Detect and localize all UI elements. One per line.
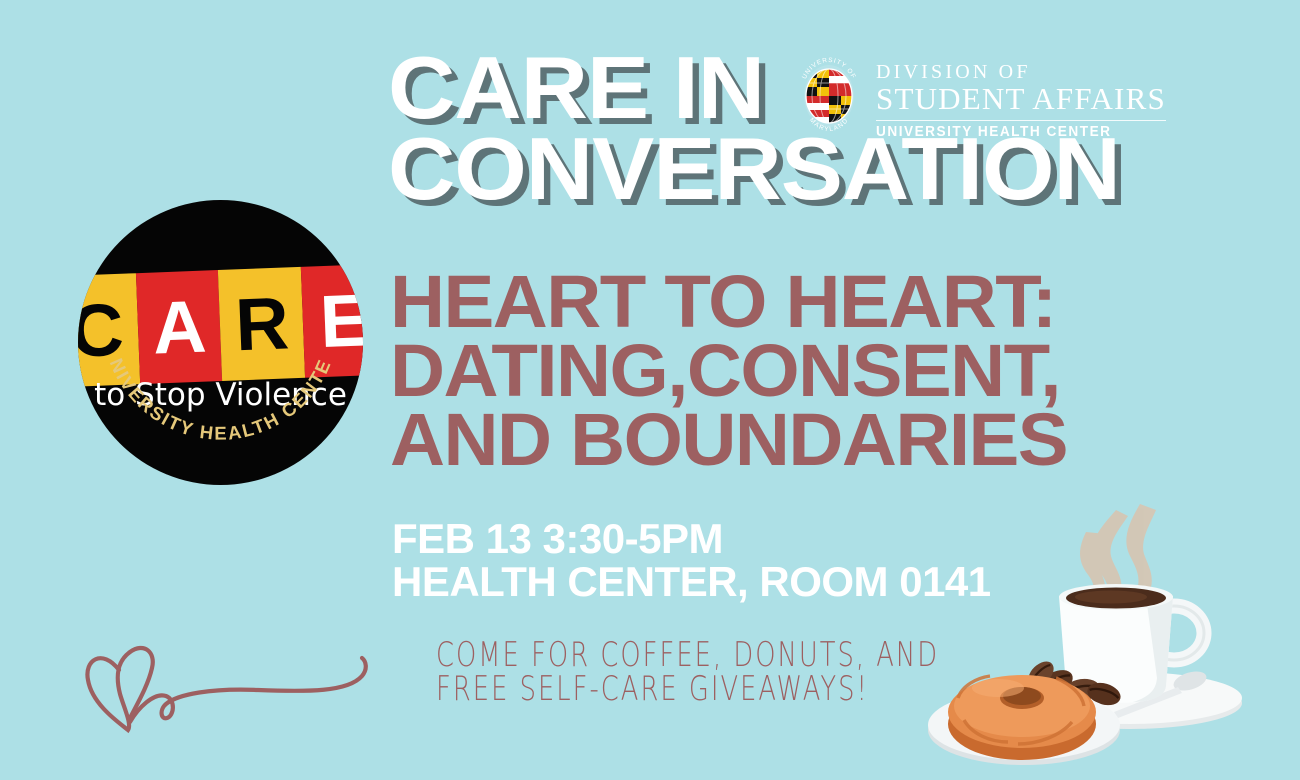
coffee-and-donut-illustration <box>928 498 1300 780</box>
subtitle-line-2: DATING,CONSENT, <box>390 337 1204 406</box>
care-arc-text: UNIVERSITY HEALTH CENTER <box>78 200 363 485</box>
event-details: FEB 13 3:30-5PM HEALTH CENTER, ROOM 0141 <box>392 518 991 604</box>
event-note: COME FOR COFFEE, DONUTS, AND FREE SELF-C… <box>418 638 868 706</box>
dsa-student-affairs: STUDENT AFFAIRS <box>876 83 1166 116</box>
heart-flourish-icon <box>62 612 402 752</box>
care-arc-label: UNIVERSITY HEALTH CENTER <box>78 200 335 444</box>
donut-icon <box>948 675 1096 760</box>
care-logo: C A R E to Stop Violence UNIVERSITY HEAL… <box>78 200 363 485</box>
event-subtitle: HEART TO HEART: DATING,CONSENT, AND BOUN… <box>390 268 1180 474</box>
event-date-time: FEB 13 3:30-5PM <box>392 518 991 561</box>
subtitle-line-3: AND BOUNDARIES <box>390 406 1204 475</box>
umd-seal-icon: UNIVERSITY OF MARYLAND <box>796 56 862 136</box>
svg-text:UNIVERSITY HEALTH CENTER: UNIVERSITY HEALTH CENTER <box>78 200 335 444</box>
steam-icon <box>1080 504 1156 594</box>
umd-student-affairs-logo: UNIVERSITY OF MARYLAND DIVISION OF STUDE… <box>796 56 1166 140</box>
title-line-2: CONVERSATION <box>388 129 1204 210</box>
note-line-2: FREE SELF-CARE GIVEAWAYS! <box>436 668 850 710</box>
flyer-canvas: C A R E to Stop Violence UNIVERSITY HEAL… <box>0 0 1300 780</box>
subtitle-line-1: HEART TO HEART: <box>390 268 1204 337</box>
dsa-wordmark: DIVISION OF STUDENT AFFAIRS UNIVERSITY H… <box>876 56 1166 140</box>
event-location: HEALTH CENTER, ROOM 0141 <box>392 561 991 604</box>
dsa-divider <box>876 120 1166 121</box>
dsa-university-health-center: UNIVERSITY HEALTH CENTER <box>876 124 1148 140</box>
dsa-division-of: DIVISION OF <box>876 62 1166 83</box>
